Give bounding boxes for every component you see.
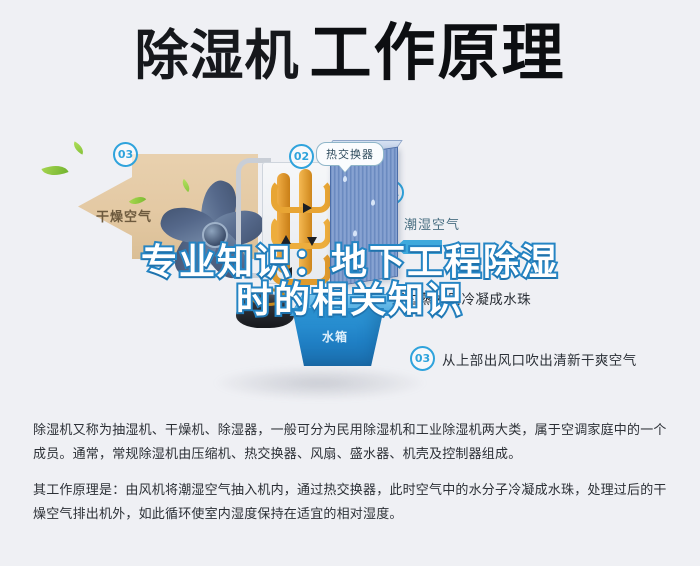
page-title-part2: 工作原理: [309, 16, 565, 89]
infographic-page: 除湿机工作原理 干燥空气 03 潮湿空气 01: [0, 0, 700, 566]
flow-arrow-left-icon: [283, 267, 292, 277]
article-paragraph-1: 除湿机又称为抽湿机、干燥机、除湿器，一般可分为民用除湿机和工业除湿机两大类，属于…: [33, 418, 669, 466]
water-droplet-icon: [353, 230, 357, 237]
water-droplet-icon: [381, 250, 385, 257]
step-caption-02: 经过蒸发器冷凝成水珠: [392, 288, 531, 308]
water-droplet-icon: [343, 176, 347, 183]
coil-pipe-bend: [271, 179, 331, 213]
step-caption-03: 03 从上部出风口吹出清新干爽空气: [410, 346, 637, 371]
humid-air-swoosh-icon: [392, 120, 607, 295]
heat-exchanger-callout: 热交换器: [316, 142, 384, 166]
step-caption-02-text: 经过蒸发器冷凝成水珠: [392, 288, 531, 308]
air-intake-arrow-icon: [396, 240, 442, 254]
flow-arrow-up-icon: [281, 235, 291, 244]
page-title-part1: 除湿机: [134, 24, 299, 87]
page-title: 除湿机工作原理: [0, 22, 700, 84]
leaf-icon: [71, 141, 86, 154]
compressor-cap: [250, 288, 286, 306]
step-caption-03-text: 从上部出风口吹出清新干爽空气: [442, 349, 637, 369]
leaf-icon: [41, 160, 68, 181]
badge-03-step: 03: [410, 346, 435, 371]
article-paragraph-2: 其工作原理是：由风机将潮湿空气抽入机内，通过热交换器，此时空气中的水分子冷凝成水…: [33, 478, 669, 526]
unit-ground-shadow: [215, 366, 425, 400]
fan-hub: [202, 222, 228, 248]
coil-pipe-bend: [271, 215, 331, 249]
dry-air-label: 干燥空气: [96, 206, 152, 225]
dehumidifier-diagram: 干燥空气 03 潮湿空气 01: [0, 118, 700, 408]
humid-air-label: 潮湿空气: [404, 214, 460, 233]
condenser-coil-block: [262, 162, 336, 284]
water-droplet-icon: [371, 199, 375, 206]
badge-02-heat-exchanger: 02: [289, 144, 314, 169]
badge-03-dry-air: 03: [113, 142, 138, 167]
water-tank-label: 水箱: [322, 328, 348, 345]
flow-arrow-down-icon: [307, 237, 317, 246]
article-body: 除湿机又称为抽湿机、干燥机、除湿器，一般可分为民用除湿机和工业除湿机两大类，属于…: [33, 418, 669, 526]
flow-arrow-right-icon: [303, 203, 312, 213]
coil-pipe-bend: [271, 251, 331, 285]
